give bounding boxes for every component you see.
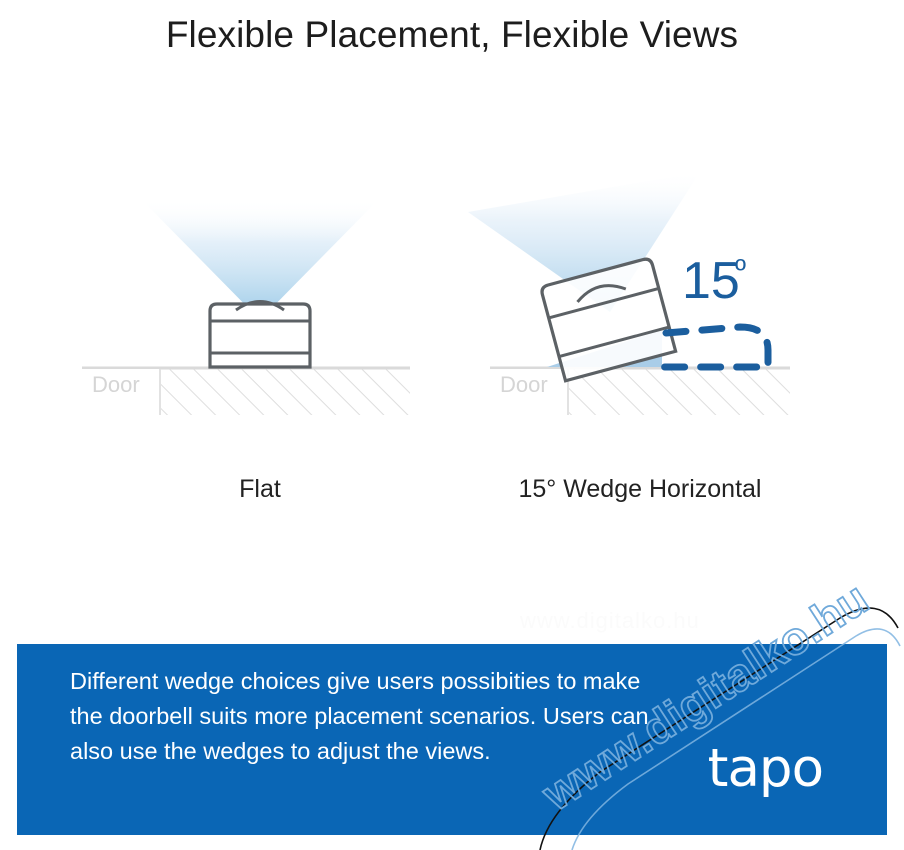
doorbell-device <box>210 302 310 368</box>
angle-unit: º <box>735 254 746 287</box>
panel-flat: Door Flat <box>70 150 450 550</box>
angle-reference-outline <box>662 327 768 367</box>
ground-label-door: Door <box>92 372 140 398</box>
info-banner: Different wedge choices give users possi… <box>17 644 887 835</box>
angle-value: 15 <box>682 252 740 310</box>
page-title: Flexible Placement, Flexible Views <box>0 14 904 56</box>
angle-label: 15 º <box>682 252 746 310</box>
diagram-wedge-15: 15 º <box>450 150 830 470</box>
tapo-logo: tapo <box>708 742 823 795</box>
ground-label-door: Door <box>500 372 548 398</box>
product-infographic: Flexible Placement, Flexible Views <box>0 0 904 850</box>
ghost-watermark-text: www.digitalko.hu <box>520 608 700 634</box>
diagram-flat <box>70 150 450 470</box>
caption-wedge-15: 15° Wedge Horizontal <box>450 475 830 504</box>
panel-wedge-15: 15 º Door 15° Wedge Horizontal <box>450 150 830 550</box>
caption-flat: Flat <box>70 475 450 504</box>
banner-description: Different wedge choices give users possi… <box>70 664 670 769</box>
